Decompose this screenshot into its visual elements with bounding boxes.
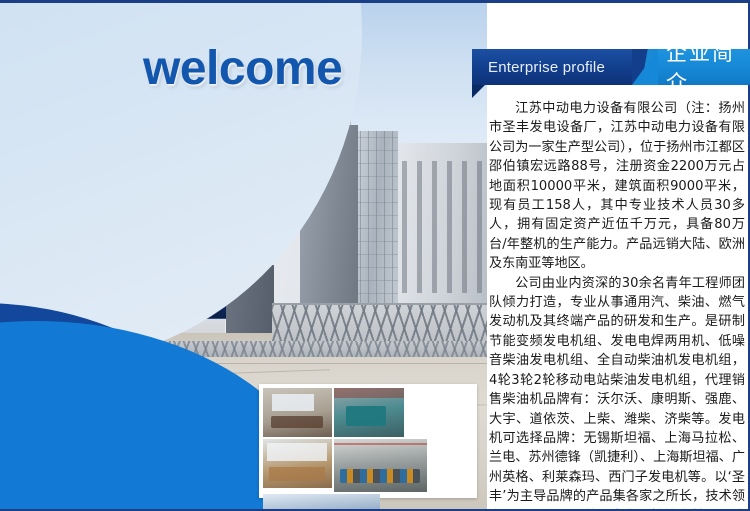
welcome-title: welcome: [143, 41, 342, 96]
factory-floor-photo: [334, 439, 427, 492]
company-profile-text: 江苏中动电力设备有限公司（注：扬州市圣丰发电设备厂，江苏中动电力设备有限公司为一…: [489, 99, 745, 511]
conference-hall-photo: [263, 494, 380, 511]
meeting-room-photo: [263, 388, 332, 437]
factory-photo-panel: 中动电力 江苏中动电力设备有限公司 Jiangsu Zhongdong Powe…: [0, 3, 487, 511]
ribbon-label-en: Enterprise profile: [472, 59, 605, 76]
ribbon-english-part: Enterprise profile: [472, 49, 632, 85]
profile-paragraph-2: 公司由业内资深的30余名青年工程师团队倾力打造，专业从事通用汽、柴油、燃气发动机…: [489, 274, 745, 511]
company-profile-banner: 中动电力 江苏中动电力设备有限公司 Jiangsu Zhongdong Powe…: [0, 0, 750, 511]
ribbon-fold-notch: [472, 85, 485, 98]
office-photo: [263, 439, 332, 488]
generator-workshop-photo: [334, 388, 404, 437]
profile-paragraph-1: 江苏中动电力设备有限公司（注：扬州市圣丰发电设备厂，江苏中动电力设备有限公司为一…: [489, 99, 745, 274]
facility-photo-grid: [259, 384, 477, 498]
section-header-ribbon: Enterprise profile 企业简介: [472, 49, 750, 85]
ribbon-chinese-part: 企业简介: [658, 49, 750, 85]
ribbon-slant-divider: [632, 49, 658, 85]
ribbon-label-cn: 企业简介: [658, 37, 750, 97]
